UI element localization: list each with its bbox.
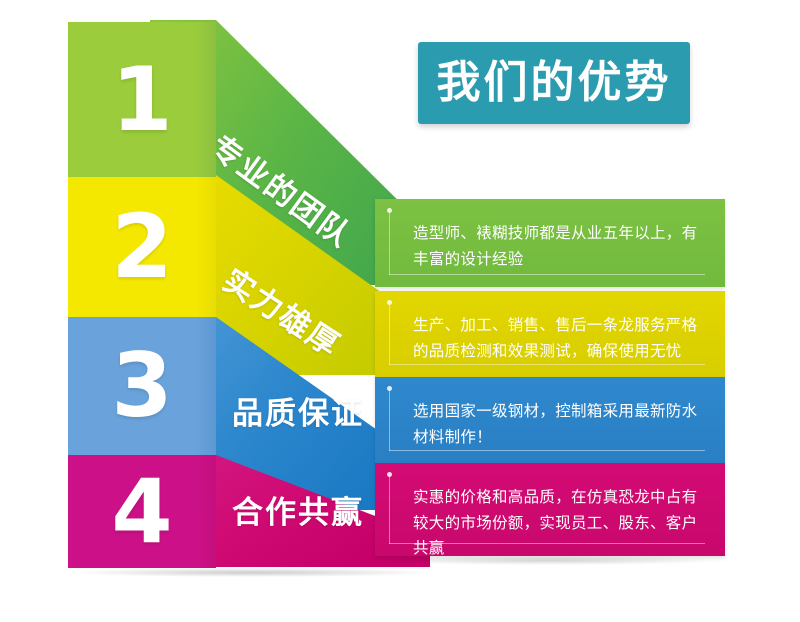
number-label-1: 1 bbox=[111, 56, 172, 144]
panel-ground-shadow bbox=[378, 556, 722, 565]
number-block-1: 1 bbox=[68, 22, 216, 177]
detail-text-1: 造型师、裱糊技师都是从业五年以上，有丰富的设计经验 bbox=[399, 221, 701, 272]
number-label-2: 2 bbox=[111, 203, 172, 291]
number-block-3: 3 bbox=[68, 317, 216, 455]
detail-panel-3: 选用国家一级钢材，控制箱采用最新防水材料制作！ bbox=[375, 377, 725, 463]
band-label-3: 品质保证 bbox=[232, 388, 364, 433]
panel-rule-2 bbox=[389, 364, 705, 365]
detail-panel-1: 造型师、裱糊技师都是从业五年以上，有丰富的设计经验 bbox=[375, 199, 725, 287]
detail-panel-4: 实惠的价格和高品质，在仿真恐龙中占有较大的市场份额，实现员工、股东、客户共赢 bbox=[375, 463, 725, 556]
detail-text-2: 生产、加工、销售、售后一条龙服务严格的品质检测和效果测试，确保使用无忧 bbox=[399, 313, 701, 364]
panel-rule-1 bbox=[389, 274, 705, 275]
panel-rule-4 bbox=[389, 543, 705, 544]
number-block-2: 2 bbox=[68, 177, 216, 317]
detail-panel-2: 生产、加工、销售、售后一条龙服务严格的品质检测和效果测试，确保使用无忧 bbox=[375, 291, 725, 377]
panel-bracket-1 bbox=[389, 211, 390, 275]
number-block-4: 4 bbox=[68, 455, 216, 568]
panel-bracket-2 bbox=[389, 303, 390, 365]
number-label-4: 4 bbox=[111, 468, 172, 556]
title-box: 我们的优势 bbox=[418, 42, 690, 124]
panel-bracket-3 bbox=[389, 389, 390, 451]
page-title: 我们的优势 bbox=[437, 61, 672, 105]
panel-bracket-4 bbox=[389, 475, 390, 544]
stack-ground-shadow bbox=[72, 568, 432, 577]
panel-rule-3 bbox=[389, 450, 705, 451]
infographic-canvas: 1 2 3 4 专业的团队 实力雄厚 品质保证 合作共赢 造型师、裱糊技师都是从… bbox=[0, 0, 800, 622]
band-label-4: 合作共赢 bbox=[232, 487, 364, 532]
detail-text-3: 选用国家一级钢材，控制箱采用最新防水材料制作！ bbox=[399, 399, 701, 450]
number-label-3: 3 bbox=[111, 342, 172, 430]
detail-text-4: 实惠的价格和高品质，在仿真恐龙中占有较大的市场份额，实现员工、股东、客户共赢 bbox=[399, 485, 701, 562]
